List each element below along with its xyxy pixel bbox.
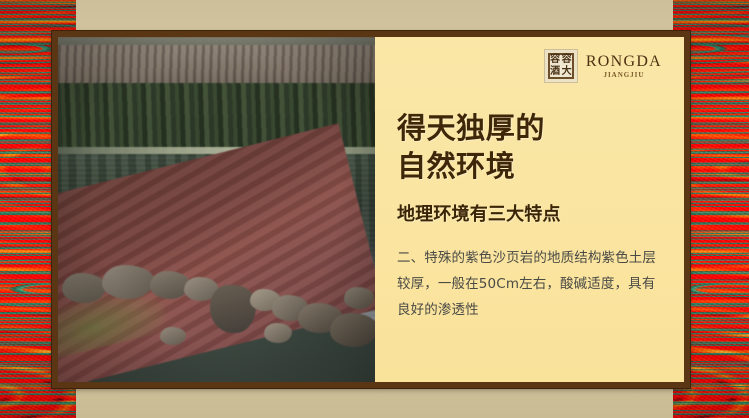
- photo-rock: [210, 285, 256, 333]
- brand-logo: 容 容 酒 大 RONGDA JIANGJIU: [544, 49, 662, 83]
- headline-line-2: 自然环境: [397, 147, 660, 185]
- headline-line-1: 得天独厚的: [397, 111, 545, 145]
- photo-rock: [264, 323, 292, 343]
- scenery-photo: [58, 37, 375, 382]
- text-panel: 容 容 酒 大 RONGDA JIANGJIU 得天独厚的 自然环境 地理环境有…: [375, 37, 684, 382]
- seal-character: 酒: [550, 67, 561, 78]
- brand-name: RONGDA: [586, 54, 662, 70]
- brand-wordmark: RONGDA JIANGJIU: [586, 54, 662, 79]
- photo-rock: [330, 313, 375, 347]
- seal-character: 容: [561, 55, 572, 66]
- slide-headline: 得天独厚的 自然环境: [397, 109, 660, 186]
- company-seal-icon: 容 容 酒 大: [544, 49, 578, 83]
- slide-body-text: 二、特殊的紫色沙页岩的地质结构紫色土层较厚，一般在50Cm左右，酸碱适度，具有良…: [397, 245, 660, 324]
- content-card: 容 容 酒 大 RONGDA JIANGJIU 得天独厚的 自然环境 地理环境有…: [52, 31, 690, 388]
- brand-tagline: JIANGJIU: [603, 72, 644, 79]
- slide-root: 容 容 酒 大 RONGDA JIANGJIU 得天独厚的 自然环境 地理环境有…: [0, 0, 749, 418]
- slide-subheading: 地理环境有三大特点: [397, 200, 660, 226]
- seal-character: 容: [550, 55, 561, 66]
- seal-inner-frame: 容 容 酒 大: [548, 53, 574, 79]
- seal-character: 大: [561, 67, 572, 78]
